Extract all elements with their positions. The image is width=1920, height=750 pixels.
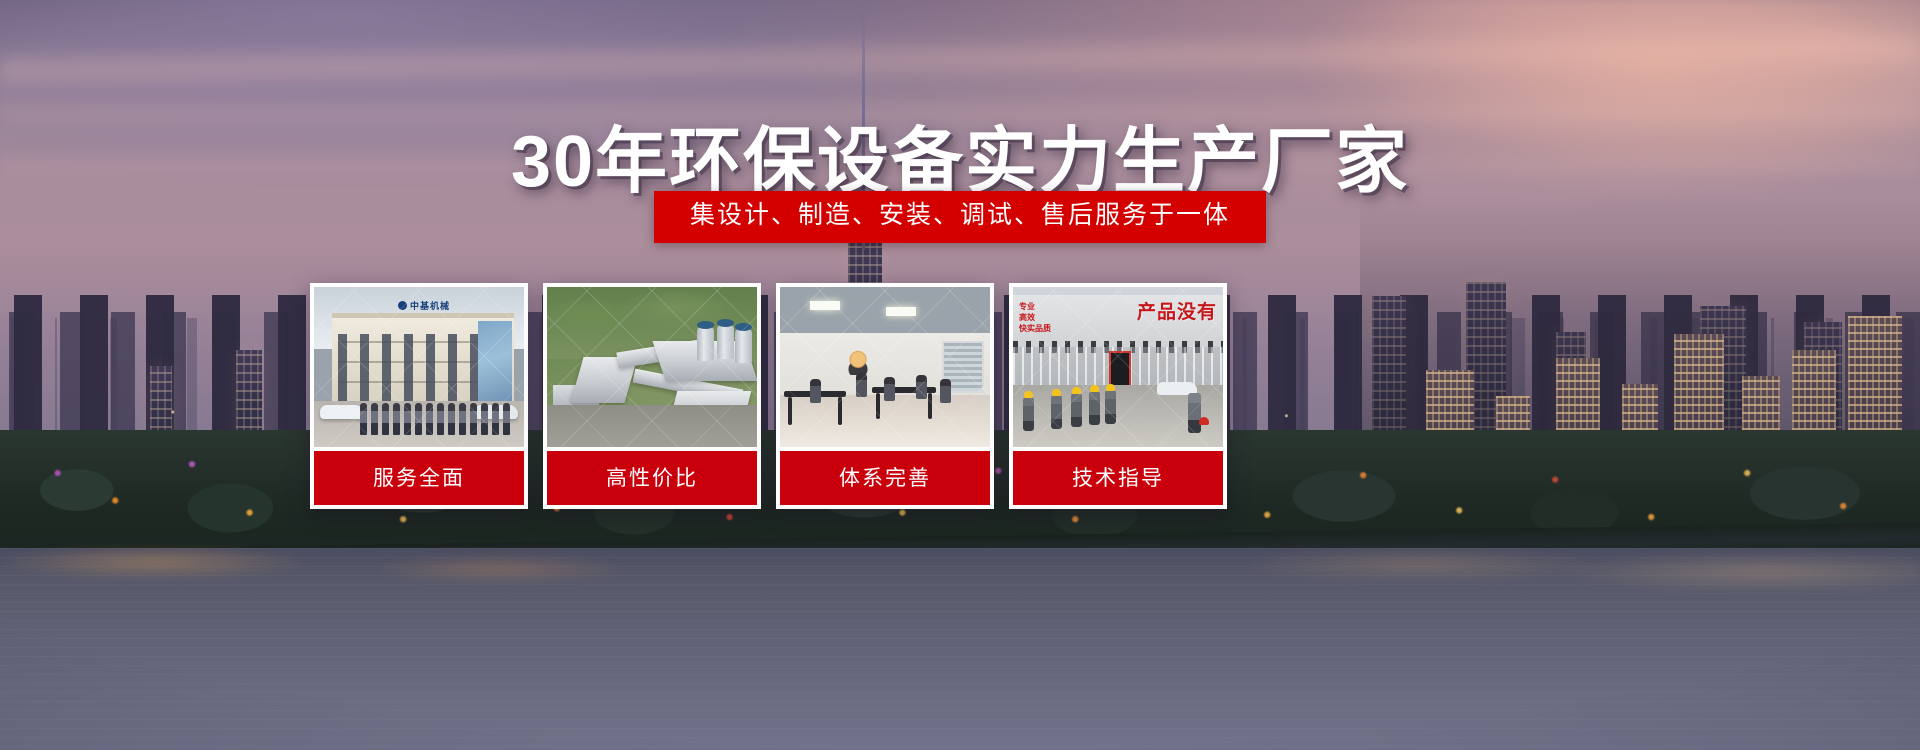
staff-line bbox=[360, 403, 510, 435]
card-photo-office-building: 中基机械 bbox=[314, 287, 524, 447]
factory-banner-text: 产品没有 bbox=[1137, 297, 1217, 324]
feature-card-list: 中基机械 服务全面 bbox=[310, 283, 1227, 509]
company-logo-icon bbox=[398, 301, 407, 310]
worker-figure bbox=[1051, 395, 1062, 429]
factory-slogan-text: 专业高效快实品质 bbox=[1019, 301, 1051, 334]
red-helmet-icon bbox=[1199, 417, 1209, 425]
feature-card[interactable]: 高性价比 bbox=[543, 283, 761, 509]
storage-silo bbox=[735, 329, 752, 363]
card-photo-office-interior bbox=[780, 287, 990, 447]
building-sign-text: 中基机械 bbox=[410, 299, 450, 312]
worker-figure bbox=[1071, 393, 1082, 427]
card-photo-aerial-plant bbox=[547, 287, 757, 447]
card-label: 体系完善 bbox=[780, 451, 990, 505]
seated-person bbox=[810, 379, 821, 403]
feature-card[interactable]: 产品没有 专业高效快实品质 技术指导 bbox=[1009, 283, 1227, 509]
seated-person bbox=[856, 373, 867, 397]
feature-card[interactable]: 体系完善 bbox=[776, 283, 994, 509]
card-label: 服务全面 bbox=[314, 451, 524, 505]
storage-silo bbox=[717, 325, 734, 359]
parked-car bbox=[320, 405, 364, 419]
hero-banner: 30年环保设备实力生产厂家 集设计、制造、安装、调试、售后服务于一体 中基机械 bbox=[0, 0, 1920, 750]
wall-emblem-icon bbox=[842, 349, 874, 375]
banner-content: 30年环保设备实力生产厂家 集设计、制造、安装、调试、售后服务于一体 中基机械 bbox=[0, 0, 1920, 750]
seated-person bbox=[916, 375, 927, 399]
subtitle-badge: 集设计、制造、安装、调试、售后服务于一体 bbox=[654, 191, 1266, 243]
storage-silo bbox=[697, 327, 714, 361]
worker-figure bbox=[1089, 391, 1100, 425]
card-label: 技术指导 bbox=[1013, 451, 1223, 505]
card-label: 高性价比 bbox=[547, 451, 757, 505]
worker-figure bbox=[1105, 390, 1116, 424]
building-sign: 中基机械 bbox=[398, 299, 484, 312]
seated-person bbox=[940, 379, 951, 403]
subtitle-row: 集设计、制造、安装、调试、售后服务于一体 bbox=[0, 191, 1920, 243]
supervisor-figure bbox=[1188, 393, 1201, 433]
feature-card[interactable]: 中基机械 服务全面 bbox=[310, 283, 528, 509]
worker-figure bbox=[1023, 397, 1034, 431]
seated-person bbox=[884, 377, 895, 401]
card-photo-factory-workers: 产品没有 专业高效快实品质 bbox=[1013, 287, 1223, 447]
